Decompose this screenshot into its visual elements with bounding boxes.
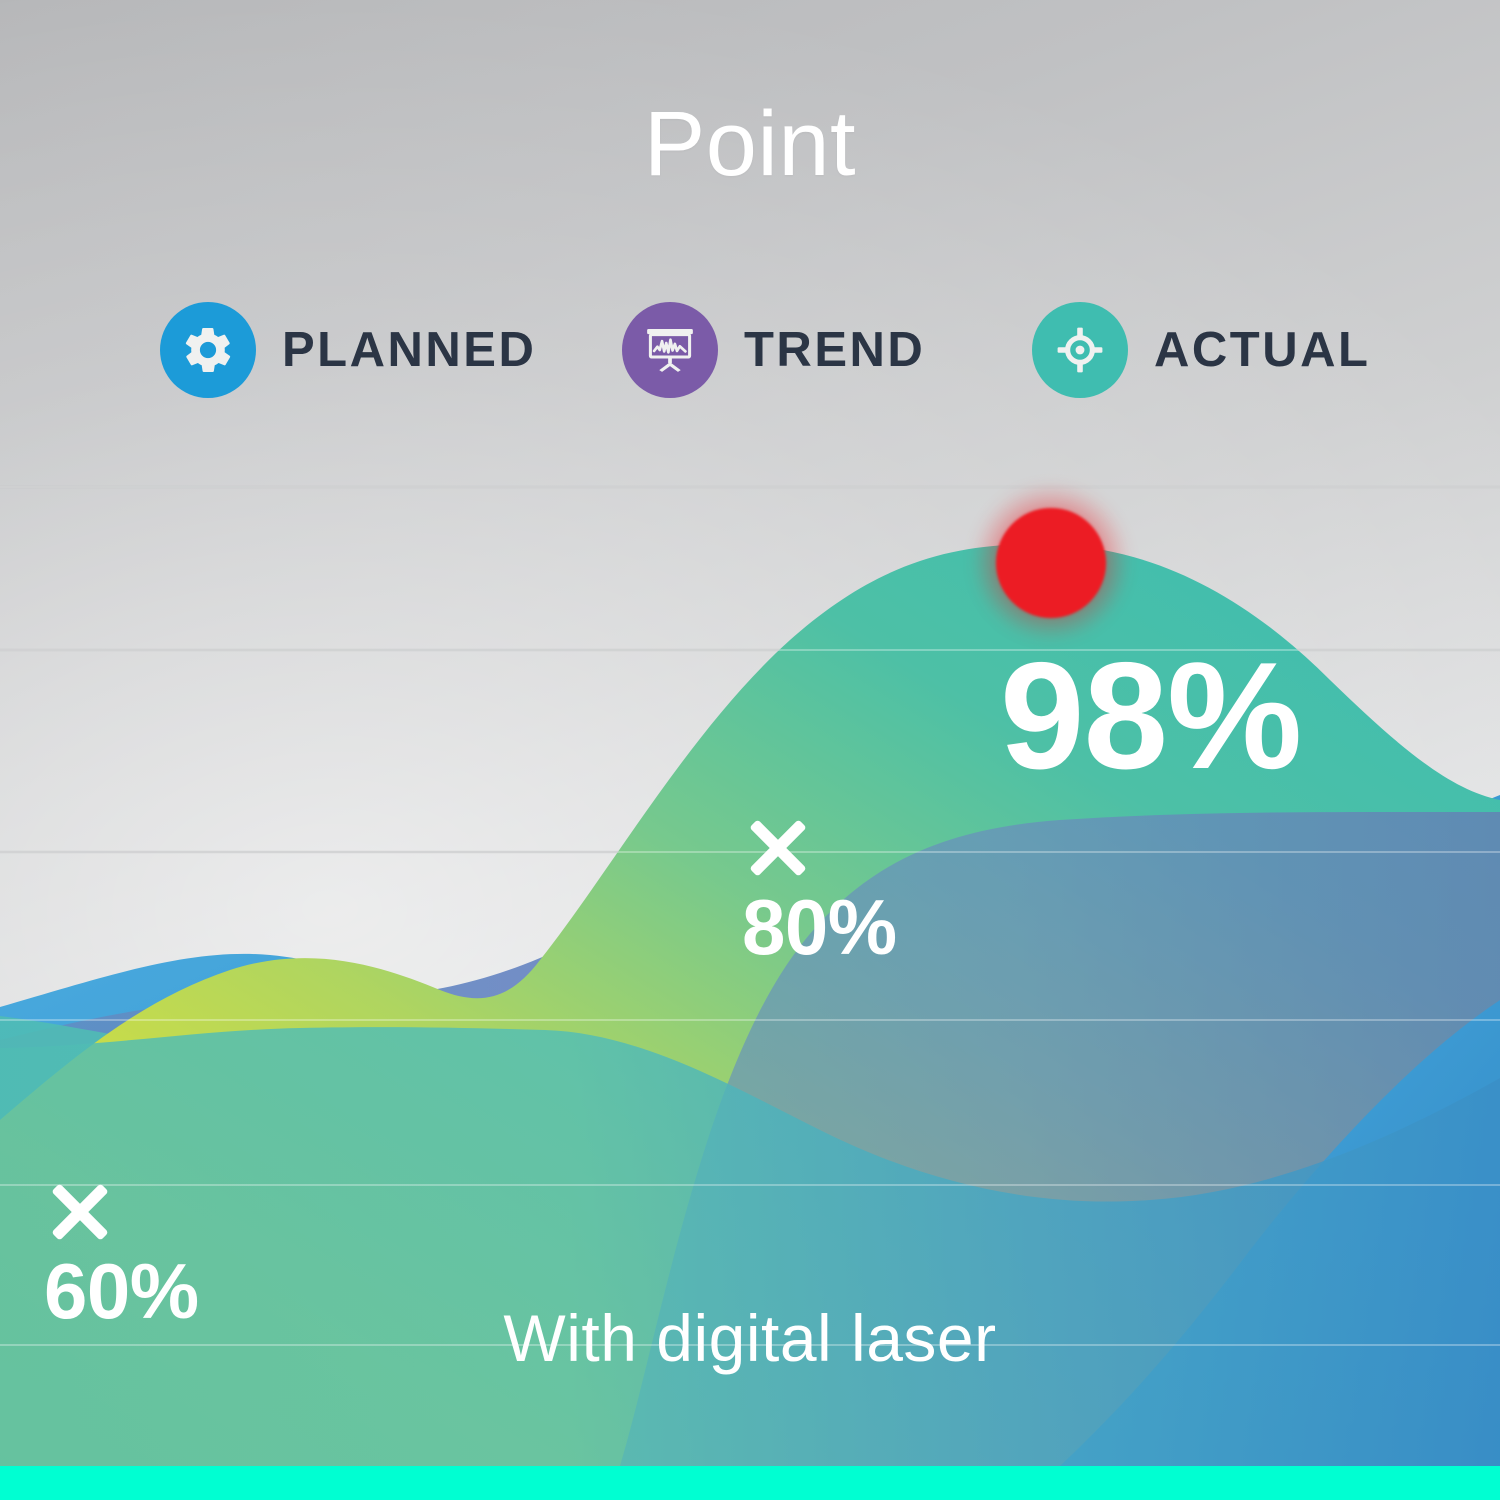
x-mark-icon [742,812,814,884]
legend-item-actual[interactable]: ACTUAL [1032,300,1370,400]
page-title: Point [0,96,1500,193]
red-laser-dot-marker[interactable] [996,508,1106,618]
presentation-chart-icon [622,302,718,398]
caption-text: With digital laser [0,1300,1500,1376]
bottom-accent-bar [0,1466,1500,1500]
actual-value-label: 98% [1000,640,1301,792]
legend-label-planned: PLANNED [282,322,536,378]
chart-legend: PLANNED TREND [160,300,1380,400]
legend-item-planned[interactable]: PLANNED [160,300,536,400]
x-mark-icon [44,1176,116,1248]
crosshair-target-icon [1032,302,1128,398]
legend-item-trend[interactable]: TREND [622,300,925,400]
slide-canvas: Point PLANNED TREND [0,0,1500,1500]
legend-label-actual: ACTUAL [1154,322,1370,378]
legend-label-trend: TREND [744,322,925,378]
gear-icon [160,302,256,398]
trend-data-marker: 80% [742,812,897,969]
trend-value-label: 80% [742,886,897,969]
